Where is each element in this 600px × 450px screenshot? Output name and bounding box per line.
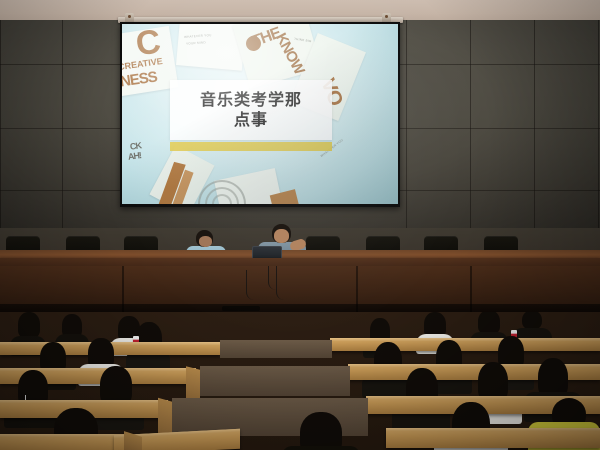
desk-row [386, 428, 600, 448]
presenter-right-face [274, 229, 289, 243]
presenter-left-face [199, 236, 212, 247]
projected-slide: C CREATIVE NESS THE KNOW VO CK AH! WHATE… [122, 24, 398, 204]
slide-decor-circle [246, 36, 261, 51]
audience-area [0, 312, 600, 450]
slide-title-line-1: 音乐类考学那 [200, 90, 302, 110]
slide-title-underline [170, 142, 332, 151]
slide-word-ah: AH! [127, 151, 141, 162]
lecture-hall-photo: C CREATIVE NESS THE KNOW VO CK AH! WHATE… [0, 0, 600, 450]
cable [246, 270, 263, 300]
aisle-floor [220, 340, 332, 358]
desk-row [0, 434, 130, 450]
slide-title-line-2: 点事 [234, 110, 268, 130]
slide-title-card: 音乐类考学那 点事 [170, 80, 332, 140]
aisle-floor [200, 366, 350, 396]
cable [276, 266, 297, 300]
desk-row [330, 338, 600, 351]
projector-screen: C CREATIVE NESS THE KNOW VO CK AH! WHATE… [120, 22, 400, 207]
